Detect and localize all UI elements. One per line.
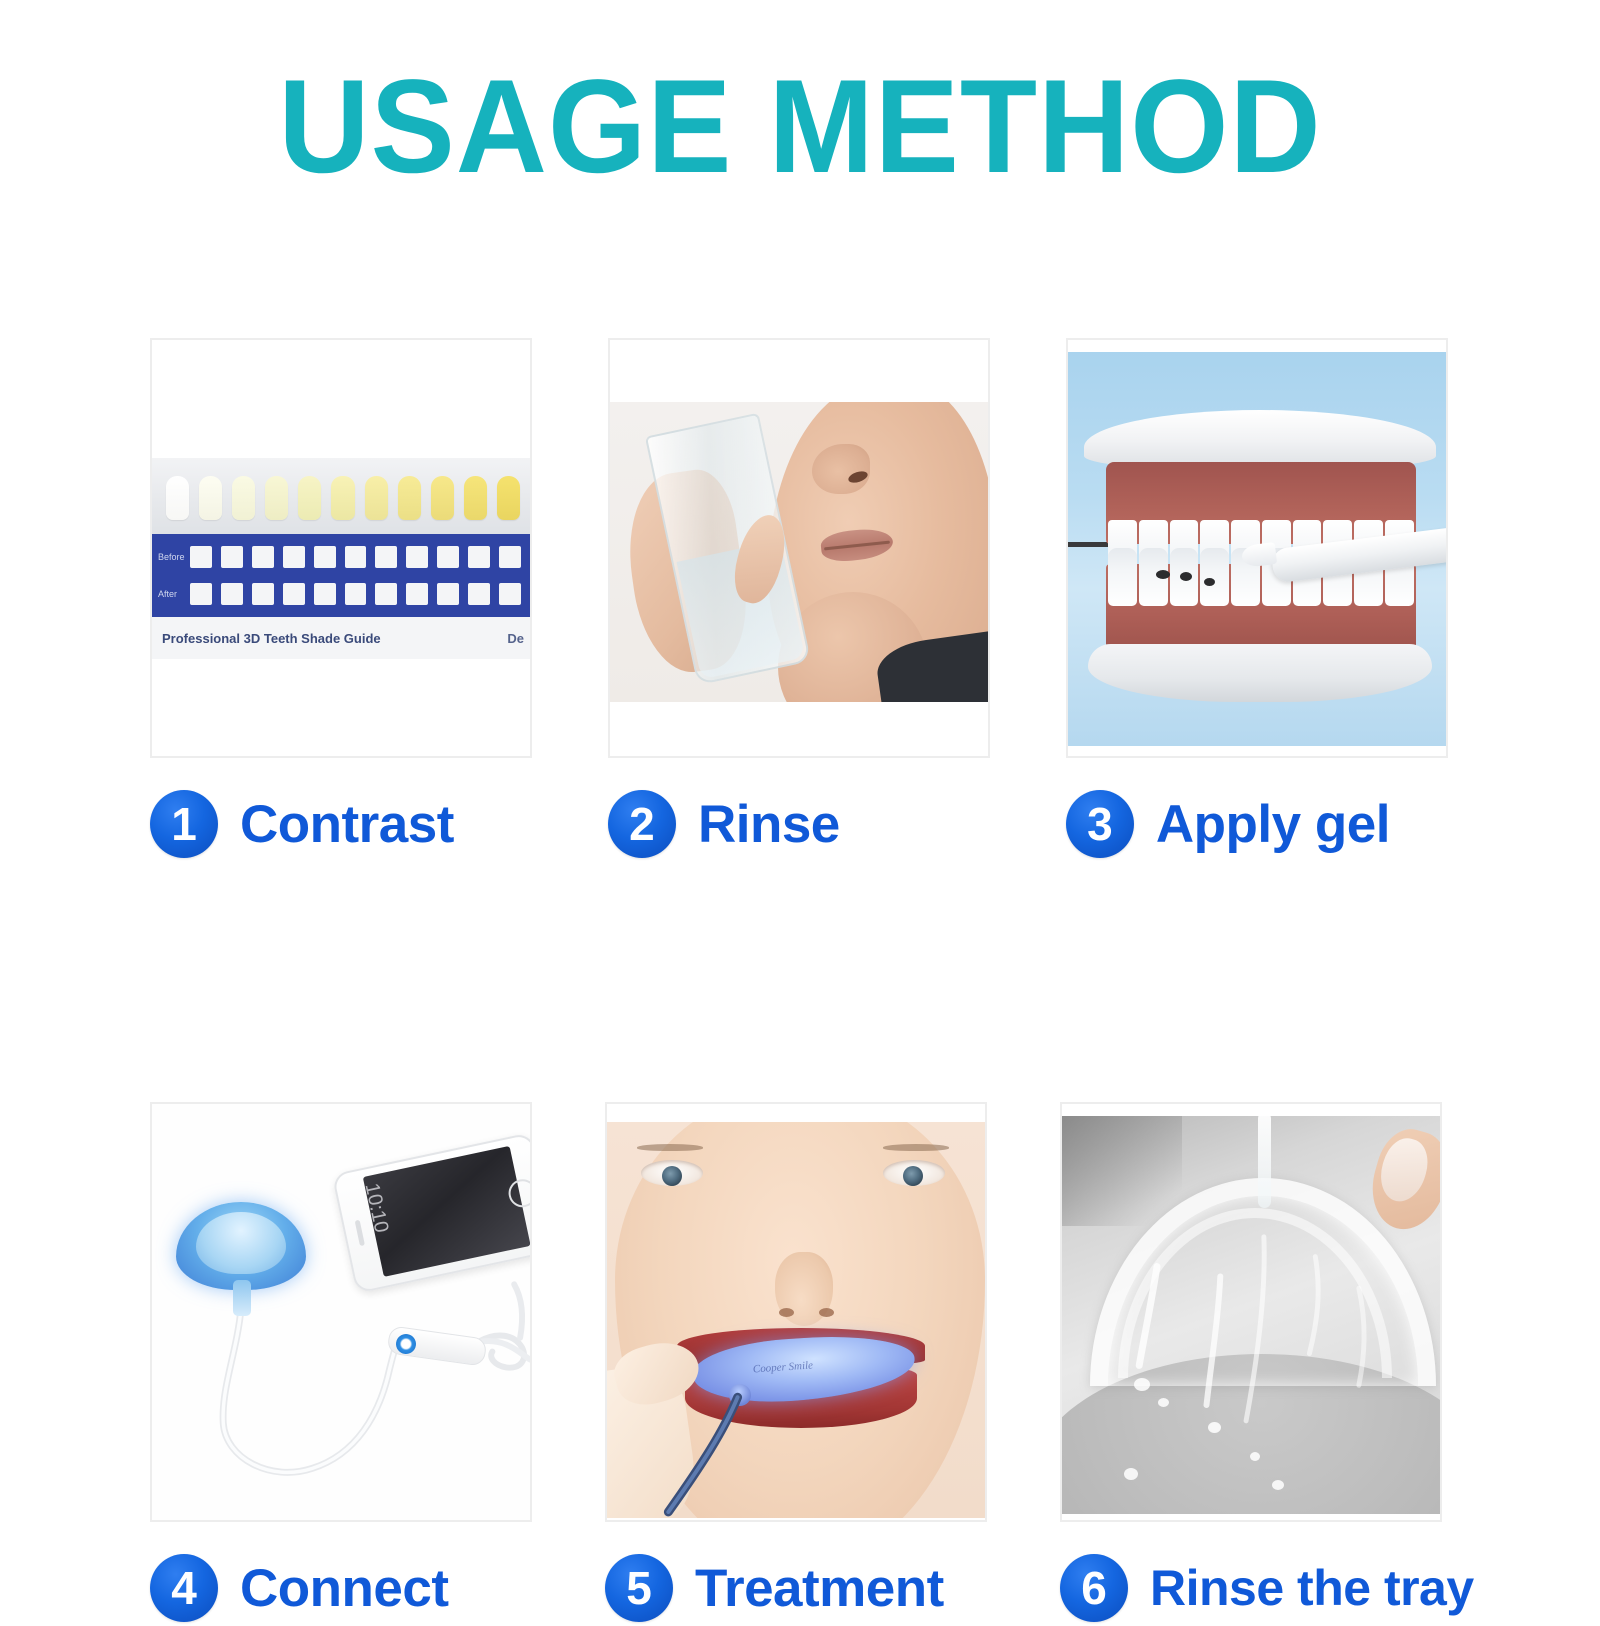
step-5-caption: 5 Treatment xyxy=(605,1550,987,1626)
water-droplet xyxy=(1208,1422,1221,1433)
shade-swatch xyxy=(431,476,454,520)
before-checkbox[interactable] xyxy=(221,546,243,568)
shade-guide-footer: Professional 3D Teeth Shade Guide De xyxy=(152,617,530,659)
before-checkbox[interactable] xyxy=(345,546,367,568)
before-row: Before xyxy=(152,542,530,572)
teeth-shade-guide-card: Before xyxy=(152,458,530,659)
tray-under-running-water-photo xyxy=(1062,1116,1440,1514)
woman-wearing-led-tray-photo: Cooper Smile xyxy=(607,1122,985,1518)
after-checkbox[interactable] xyxy=(252,583,274,605)
before-label: Before xyxy=(152,552,190,562)
water-droplet xyxy=(1250,1452,1260,1461)
after-checkbox[interactable] xyxy=(190,583,212,605)
dental-model-gel-pen-photo xyxy=(1068,352,1446,746)
step-1-image: Before xyxy=(150,338,532,758)
before-checkbox[interactable] xyxy=(437,546,459,568)
after-checkbox[interactable] xyxy=(437,583,459,605)
shade-swatch xyxy=(331,476,354,520)
before-checkbox[interactable] xyxy=(468,546,490,568)
before-checkbox[interactable] xyxy=(314,546,336,568)
woman-nose xyxy=(812,444,870,494)
led-tray-stem xyxy=(233,1280,251,1316)
step-label-2: Rinse xyxy=(698,794,840,855)
step-number-badge-6: 6 xyxy=(1060,1554,1128,1622)
step-card-1: Before xyxy=(150,338,534,862)
woman-drinking-water-photo xyxy=(610,402,988,702)
grid-gap xyxy=(987,1102,1060,1626)
mouthpiece-cord xyxy=(607,1122,985,1518)
after-checkbox[interactable] xyxy=(468,583,490,605)
usage-steps-grid: Before xyxy=(150,338,1450,1626)
step-number-badge-5: 5 xyxy=(605,1554,673,1622)
after-label: After xyxy=(152,589,190,599)
shade-swatch-strip xyxy=(152,458,530,534)
after-checkbox[interactable] xyxy=(406,583,428,605)
steps-row-bottom: 10:10 4 Connect xyxy=(150,1102,1450,1626)
shade-swatch xyxy=(166,476,189,520)
before-checkbox[interactable] xyxy=(283,546,305,568)
steps-row-top: Before xyxy=(150,338,1450,862)
tooth-stain xyxy=(1204,578,1215,586)
smartphone: 10:10 xyxy=(332,1132,530,1294)
step-label-1: Contrast xyxy=(240,794,454,855)
before-checkbox[interactable] xyxy=(499,546,521,568)
tooth-stain xyxy=(1156,570,1170,579)
before-after-band: Before xyxy=(152,534,530,617)
step-number-badge-4: 4 xyxy=(150,1554,218,1622)
phone-clock: 10:10 xyxy=(360,1181,393,1235)
shade-swatch xyxy=(232,476,255,520)
step-2-image xyxy=(608,338,990,758)
step-number-badge-1: 1 xyxy=(150,790,218,858)
step-card-4: 10:10 4 Connect xyxy=(150,1102,532,1626)
shade-swatch xyxy=(464,476,487,520)
phone-screen: 10:10 xyxy=(363,1146,530,1277)
water-droplet xyxy=(1134,1378,1150,1391)
step-1-caption: 1 Contrast xyxy=(150,786,534,862)
step-label-6: Rinse the tray xyxy=(1150,1559,1474,1617)
step-6-image xyxy=(1060,1102,1442,1522)
tooth-stain xyxy=(1180,572,1192,581)
shade-swatch xyxy=(497,476,520,520)
led-tray-phone-connect-photo: 10:10 xyxy=(152,1104,530,1520)
step-5-image: Cooper Smile xyxy=(605,1102,987,1522)
after-checkbox[interactable] xyxy=(221,583,243,605)
step-number-badge-3: 3 xyxy=(1066,790,1134,858)
page-title: USAGE METHOD xyxy=(40,58,1560,198)
water-droplet xyxy=(1272,1480,1284,1490)
grid-gap xyxy=(532,1102,605,1626)
step-2-caption: 2 Rinse xyxy=(608,786,992,862)
before-checkbox[interactable] xyxy=(375,546,397,568)
step-card-6: 6 Rinse the tray xyxy=(1060,1102,1450,1626)
step-label-5: Treatment xyxy=(695,1558,944,1619)
shade-swatch xyxy=(398,476,421,520)
water-droplet xyxy=(1158,1398,1169,1407)
step-6-caption: 6 Rinse the tray xyxy=(1060,1550,1450,1626)
step-3-image xyxy=(1066,338,1448,758)
after-checkbox[interactable] xyxy=(499,583,521,605)
tooth xyxy=(1108,548,1137,606)
shade-swatch xyxy=(265,476,288,520)
phone-earpiece xyxy=(355,1220,365,1246)
step-3-caption: 3 Apply gel xyxy=(1066,786,1450,862)
grid-gap xyxy=(534,338,608,862)
shade-guide-brand-partial: De xyxy=(507,631,524,646)
before-checkbox[interactable] xyxy=(406,546,428,568)
after-checkbox[interactable] xyxy=(345,583,367,605)
shade-swatch xyxy=(199,476,222,520)
step-card-3: 3 Apply gel xyxy=(1066,338,1450,862)
before-checkbox[interactable] xyxy=(252,546,274,568)
after-row: After xyxy=(152,579,530,609)
shade-swatch xyxy=(298,476,321,520)
step-4-caption: 4 Connect xyxy=(150,1550,532,1626)
after-checkbox[interactable] xyxy=(314,583,336,605)
step-card-2: 2 Rinse xyxy=(608,338,992,862)
after-checkbox[interactable] xyxy=(283,583,305,605)
step-label-4: Connect xyxy=(240,1558,449,1619)
step-label-3: Apply gel xyxy=(1156,794,1390,855)
water-droplet xyxy=(1124,1468,1138,1480)
step-card-5: Cooper Smile 5 Treatment xyxy=(605,1102,987,1626)
tooth xyxy=(1200,548,1229,606)
step-4-image: 10:10 xyxy=(150,1102,532,1522)
led-tray-inner xyxy=(196,1212,286,1274)
shade-guide-product-name: Professional 3D Teeth Shade Guide xyxy=(162,631,381,646)
grid-gap xyxy=(992,338,1066,862)
before-checkbox[interactable] xyxy=(190,546,212,568)
model-lower-base xyxy=(1088,644,1432,702)
after-checkbox[interactable] xyxy=(375,583,397,605)
step-number-badge-2: 2 xyxy=(608,790,676,858)
shade-swatch xyxy=(365,476,388,520)
